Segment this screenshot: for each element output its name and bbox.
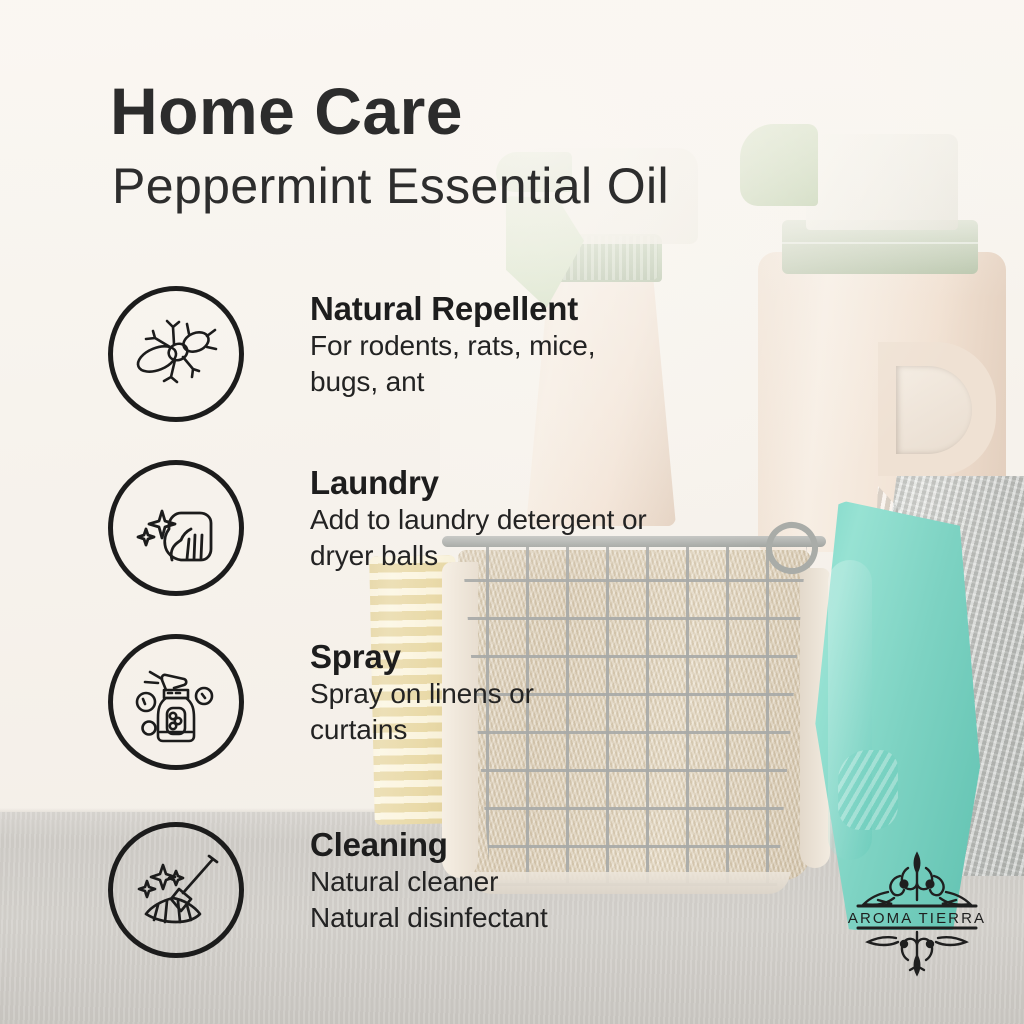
feature-heading: Cleaning xyxy=(310,826,730,864)
feature-desc-line-2: dryer balls xyxy=(310,538,730,574)
ant-icon xyxy=(108,286,244,422)
feature-item-cleaning: Cleaning Natural cleaner Natural disinfe… xyxy=(108,822,728,972)
feature-text: Natural Repellent For rodents, rats, mic… xyxy=(310,290,730,400)
feature-heading: Laundry xyxy=(310,464,730,502)
spray-bottle-icon xyxy=(108,634,244,770)
feature-desc-line-2: bugs, ant xyxy=(310,364,730,400)
feature-desc-line-2: curtains xyxy=(310,712,730,748)
feature-heading: Natural Repellent xyxy=(310,290,730,328)
feature-text: Spray Spray on linens or curtains xyxy=(310,638,730,748)
feature-item-laundry: Laundry Add to laundry detergent or drye… xyxy=(108,460,728,610)
brand-name: AROMA TIERRA xyxy=(838,910,996,927)
feature-desc-line-1: For rodents, rats, mice, xyxy=(310,328,730,364)
hand-wiping-cloth-icon xyxy=(108,460,244,596)
feature-item-natural-repellent: Natural Repellent For rodents, rats, mic… xyxy=(108,286,728,436)
feature-text: Laundry Add to laundry detergent or drye… xyxy=(310,464,730,574)
feature-text: Cleaning Natural cleaner Natural disinfe… xyxy=(310,826,730,936)
broom-sparkle-icon xyxy=(108,822,244,958)
feature-desc-line-1: Spray on linens or xyxy=(310,676,730,712)
feature-desc-line-1: Natural cleaner xyxy=(310,864,730,900)
feature-heading: Spray xyxy=(310,638,730,676)
poster-canvas: Home Care Peppermint Essential Oil xyxy=(0,0,1024,1024)
feature-desc-line-1: Add to laundry detergent or xyxy=(310,502,730,538)
brand-logo: AROMA TIERRA xyxy=(838,848,996,980)
feature-item-spray: Spray Spray on linens or curtains xyxy=(108,634,728,784)
feature-desc-line-2: Natural disinfectant xyxy=(310,900,730,936)
